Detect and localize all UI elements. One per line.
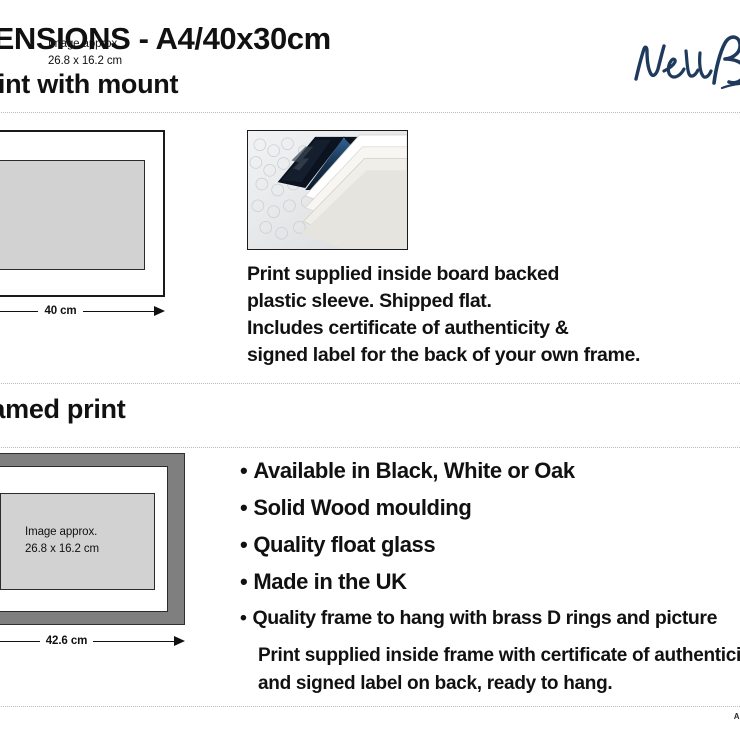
arrow-line-left	[0, 311, 38, 312]
arrow-head-icon	[154, 306, 165, 316]
bullet-icon: •	[240, 532, 247, 557]
divider-top	[0, 112, 740, 113]
bullet-icon: •	[240, 458, 247, 483]
list-item: •Solid Wood moulding	[240, 489, 740, 526]
divider-middle-top	[0, 383, 740, 384]
framed-diagram: Image approx. 26.8 x 16.2 cm	[0, 453, 185, 625]
list-item-label: Quality float glass	[253, 532, 435, 557]
arrow-line-left	[0, 641, 40, 642]
arrow-head-icon	[174, 636, 185, 646]
mount-caption-line2: 26.8 x 16.2 cm	[48, 55, 122, 67]
list-item-label: Made in the UK	[253, 569, 406, 594]
mount-image-area	[0, 160, 145, 270]
framed-width-label: 42.6 cm	[40, 635, 94, 647]
list-item: •Quality float glass	[240, 526, 740, 563]
framed-description-line-2: and signed label on back, ready to hang.	[258, 670, 740, 698]
framed-feature-list: •Available in Black, White or Oak •Solid…	[240, 452, 740, 636]
mount-description-line-3: Includes certificate of authenticity &	[247, 315, 740, 342]
mount-description: Print supplied inside board backed plast…	[247, 261, 740, 369]
framed-description-line-1: Print supplied inside frame with certifi…	[258, 642, 740, 670]
arrow-line-right	[83, 311, 155, 312]
list-item: •Made in the UK	[240, 563, 740, 600]
list-item-label: Available in Black, White or Oak	[253, 458, 574, 483]
list-item-label: Solid Wood moulding	[253, 495, 471, 520]
list-item-label: Quality frame to hang with brass D rings…	[252, 607, 717, 629]
footer-note: All	[734, 712, 740, 721]
mount-description-line-1: Print supplied inside board backed	[247, 261, 740, 288]
list-item: •Available in Black, White or Oak	[240, 452, 740, 489]
mount-width-label: 40 cm	[38, 305, 82, 317]
mount-description-line-4: signed label for the back of your own fr…	[247, 342, 740, 369]
mount-description-line-2: plastic sleeve. Shipped flat.	[247, 288, 740, 315]
framed-image-caption: Image approx. 26.8 x 16.2 cm	[25, 524, 99, 557]
framed-width-arrow: 42.6 cm	[0, 633, 185, 649]
framed-mount-area: Image approx. 26.8 x 16.2 cm	[0, 466, 168, 612]
framed-caption-line2: 26.8 x 16.2 cm	[25, 543, 99, 555]
divider-bottom	[0, 706, 740, 707]
mount-caption-line1: Image approx.	[48, 38, 120, 50]
framed-description: Print supplied inside frame with certifi…	[258, 642, 740, 698]
divider-middle-bottom	[0, 447, 740, 448]
arrow-line-right	[93, 641, 175, 642]
dimensions-info-page: DIMENSIONS - A4/40x30cm Print with mount…	[0, 0, 740, 736]
framed-caption-line1: Image approx.	[25, 526, 97, 538]
mount-image-caption: Image approx. 26.8 x 16.2 cm	[48, 36, 122, 69]
framed-section-heading: Framed print	[0, 395, 125, 425]
bullet-icon: •	[240, 569, 247, 594]
bullet-icon: •	[240, 607, 246, 629]
bullet-icon: •	[240, 495, 247, 520]
page-subtitle: Print with mount	[0, 70, 178, 100]
list-item: •Quality frame to hang with brass D ring…	[240, 600, 740, 636]
brand-signature-logo: NB	[626, 33, 740, 95]
framed-image-area: Image approx. 26.8 x 16.2 cm	[0, 493, 155, 590]
mount-width-arrow: 40 cm	[0, 303, 165, 319]
packaging-photo	[247, 130, 408, 250]
mount-diagram	[0, 130, 165, 297]
